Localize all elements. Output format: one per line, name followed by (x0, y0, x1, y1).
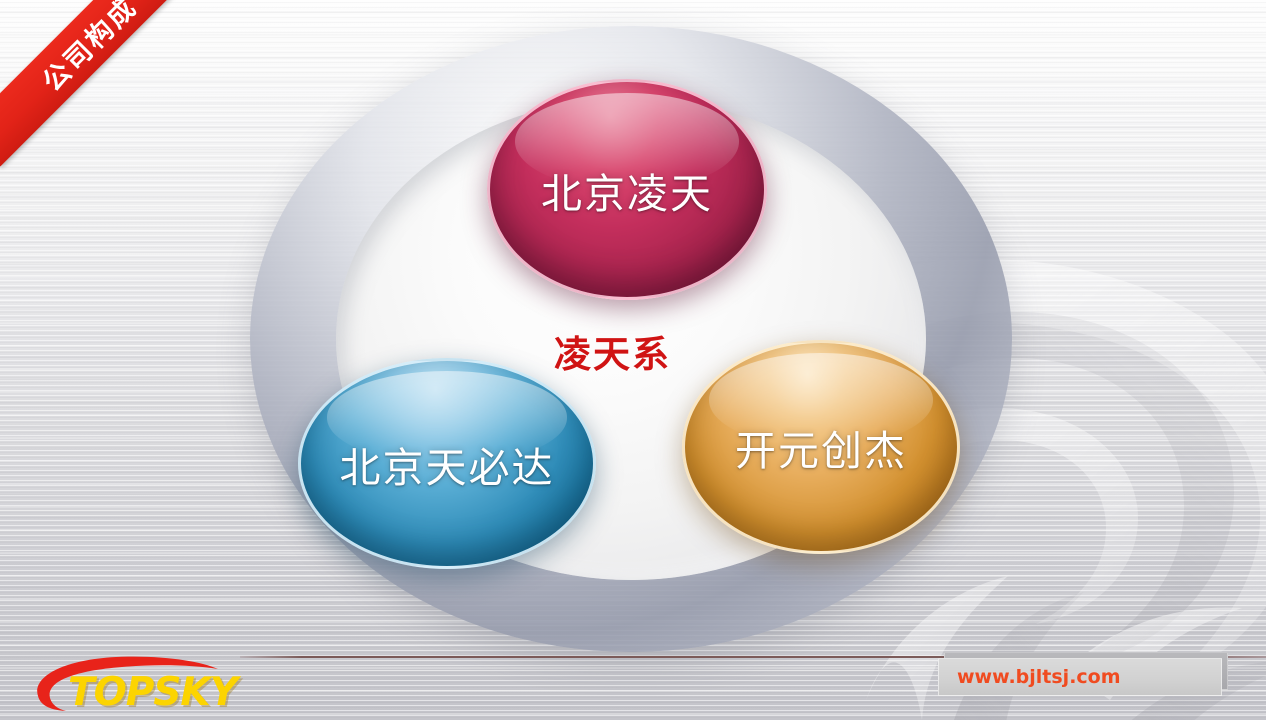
slide-canvas: 凌天系 北京凌天 北京天必达 开元创杰 公司构成 TOPSKY www.bjlt… (0, 0, 1266, 720)
website-url-text[interactable]: www.bjltsj.com (957, 666, 1121, 688)
bubble-label: 北京天必达 (340, 434, 555, 494)
bubble-kaiyuan-chuangjie[interactable]: 开元创杰 (682, 340, 960, 554)
website-url-banner: www.bjltsj.com (938, 652, 1226, 694)
topsky-logo-text: TOPSKY (68, 670, 237, 715)
corner-ribbon-banner: 公司构成 (0, 0, 212, 166)
url-banner-front-plate: www.bjltsj.com (938, 658, 1222, 696)
topsky-logo: TOPSKY (22, 652, 252, 714)
bubble-beijing-tianbida[interactable]: 北京天必达 (298, 358, 596, 569)
corner-ribbon-label: 公司构成 (32, 0, 144, 98)
bubble-beijing-lingtian[interactable]: 北京凌天 (487, 79, 767, 300)
bubble-label: 开元创杰 (735, 417, 907, 477)
center-caption-label: 凌天系 (554, 324, 671, 378)
bubble-label: 北京凌天 (541, 160, 713, 220)
